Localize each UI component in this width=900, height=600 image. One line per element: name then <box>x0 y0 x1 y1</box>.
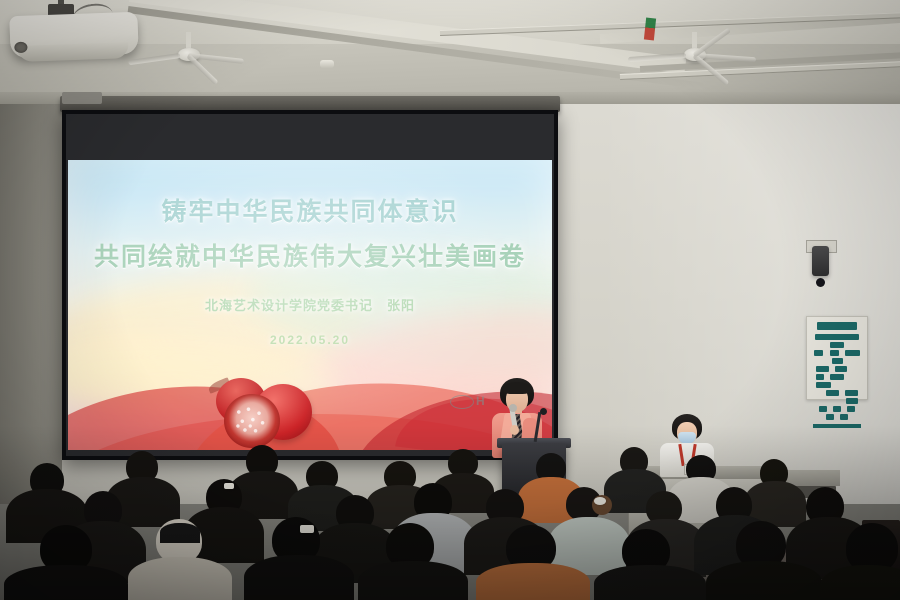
projector-body <box>9 12 138 58</box>
slide-title-line-2: 共同绘就中华民族伟大复兴壮美画卷 <box>68 237 552 273</box>
poster-node <box>826 390 839 396</box>
poster-node <box>819 406 827 412</box>
audience-shoulders <box>4 565 128 600</box>
poster-node <box>835 366 847 372</box>
audience-cap <box>160 523 200 543</box>
audience-shoulders <box>358 561 468 600</box>
hair-clip <box>224 483 234 489</box>
logo-ellipse-icon <box>450 395 474 409</box>
poster-node <box>840 414 848 420</box>
audience-shoulders <box>594 565 706 600</box>
poster-node <box>816 382 831 388</box>
lecture-hall-photo: 铸牢中华民族共同体意识 共同绘就中华民族伟大复兴壮美画卷 北海艺术设计学院党委书… <box>0 0 900 600</box>
poster-node <box>845 390 858 396</box>
poster-node <box>815 334 859 340</box>
screen-roller-cap <box>62 92 102 104</box>
audience-shoulders <box>244 555 354 600</box>
audience-shoulders <box>128 557 232 600</box>
slide-date: 2022.05.20 <box>68 333 552 347</box>
poster-node <box>826 414 834 420</box>
poster-node <box>845 350 860 356</box>
smoke-detector-icon <box>320 60 334 68</box>
poster-node <box>816 374 824 380</box>
slide-title-line-1: 铸牢中华民族共同体意识 <box>68 192 552 228</box>
slide-subtitle: 北海艺术设计学院党委书记 张阳 <box>68 295 552 314</box>
poster-node <box>847 406 855 412</box>
fan-rod <box>186 32 191 48</box>
poster-title-bar <box>817 322 857 330</box>
microphone-head-icon <box>509 404 517 412</box>
hair-clip <box>594 497 606 505</box>
slide-logo-text: H <box>476 394 486 408</box>
projector-lens-icon <box>14 42 27 53</box>
audience-shoulders <box>706 561 822 600</box>
projected-slide: 铸牢中华民族共同体意识 共同绘就中华民族伟大复兴壮美画卷 北海艺术设计学院党委书… <box>68 160 552 450</box>
poster-node <box>830 374 844 380</box>
podium-microphone-head-icon <box>540 408 547 415</box>
audience-seating-area <box>0 425 900 600</box>
slide-logo: H <box>450 394 486 409</box>
surveillance-camera-icon <box>812 246 829 276</box>
fan-rod <box>692 32 697 48</box>
audience-shoulders <box>476 563 590 600</box>
audience-shoulders <box>820 565 900 600</box>
poster-node <box>814 350 823 356</box>
wall-flowchart-poster <box>806 316 868 400</box>
poster-node <box>846 398 858 404</box>
camera-lens-icon <box>816 278 825 287</box>
speaker-fringe <box>503 382 531 394</box>
hair-clip <box>300 525 314 533</box>
poster-node <box>830 350 839 356</box>
poster-node <box>833 406 841 412</box>
